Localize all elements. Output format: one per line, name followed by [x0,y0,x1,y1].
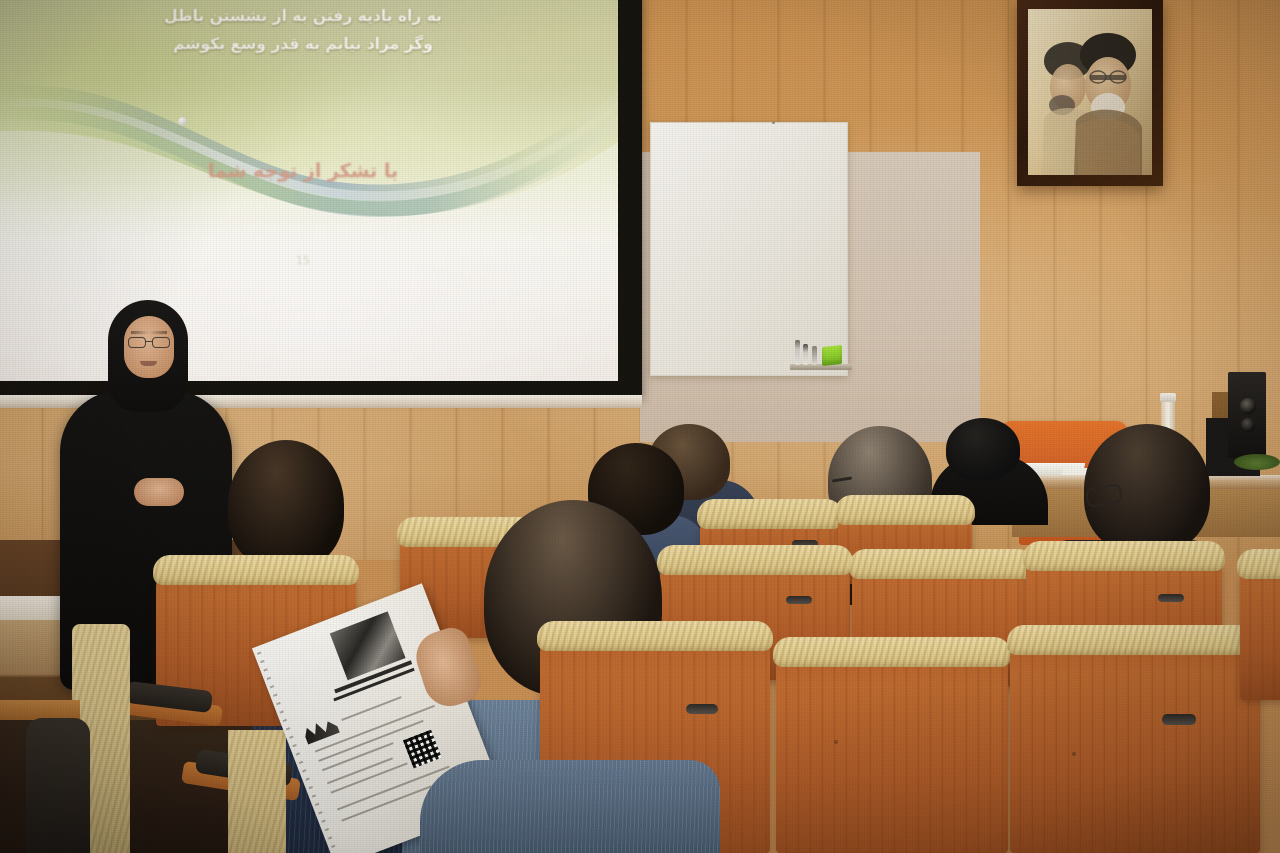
portrait-figures [1028,9,1152,175]
seat-headrest-pad [657,545,853,575]
seat-front-row [1010,636,1260,853]
slide-thanks-text: با تشکر از توجه شما [0,160,618,182]
projection-screen-surface: به راه بادیه رفتن به از نشستن باطل وگر م… [0,0,618,381]
seat-headrest-pad [773,637,1011,667]
whiteboard-marker-tray [790,364,852,370]
whiteboard-marker [795,340,800,365]
framed-leaders-portrait [1017,0,1163,186]
whiteboard-mount-knob [178,117,187,126]
seat-grip-handle [1158,594,1184,602]
seat-back-panel [1010,636,1260,853]
seat-side-post [228,730,286,853]
handout-logo [302,716,340,745]
seat-headrest-pad [153,555,359,585]
water-bottle-cap [1160,393,1176,402]
seat-back-panel [776,648,1008,853]
seat-dark-cushion [26,718,90,853]
photo-scene: به راه بادیه رفتن به از نشستن باطل وگر م… [0,0,1280,853]
seat-front-row [776,648,1008,853]
portrait-image [1028,9,1152,175]
seat-headrest-pad [1237,549,1280,579]
back-chador-attendee-head [946,418,1020,480]
whiteboard-eraser [822,345,842,366]
handout-text-line [341,696,401,721]
loudspeaker [1228,372,1266,458]
seat-headrest-pad [1007,625,1263,655]
presenter-glasses-bridge [145,341,153,342]
seat-grip-handle [1162,714,1196,725]
presenter-clasped-hands [134,478,184,506]
whiteboard-screw [772,121,775,124]
slide-page-number: 15 [0,254,618,267]
whiteboard [650,122,848,376]
slide-verse-line-1: به راه بادیه رفتن به از نشستن باطل [0,7,618,25]
slide-wave-graphic [0,0,618,381]
plant-foliage [1234,454,1280,470]
seat-screw [834,740,838,744]
seat-grip-handle [786,596,812,604]
loudspeaker-driver [1240,398,1256,414]
presenter-mouth [140,361,157,366]
seat-headrest-pad [849,549,1035,579]
seat-back-panel [1240,560,1280,700]
seat-front-shelf [0,700,80,720]
seat-headrest-pad [1023,541,1225,571]
front-left-attendee-head [228,440,344,570]
front-center-attendee-shoulder-overlay [420,760,720,853]
presenter-brows [131,331,167,334]
slide-verse-line-2: وگر مراد نیابم به قدر وسع بکوشم [0,35,618,53]
seat-headrest-pad [537,621,773,651]
handout-qr-code [403,730,442,769]
whiteboard-marker [812,346,817,365]
seat-grip-handle [686,704,718,714]
seat-headrest-pad [697,499,843,529]
whiteboard-marker [803,344,808,365]
projection-screen-frame: به راه بادیه رفتن به از نشستن باطل وگر م… [0,0,642,397]
seat-front-row-edge [1240,560,1280,700]
seat-headrest-pad [835,495,975,525]
loudspeaker-driver [1241,418,1255,432]
seat-screw [1072,752,1076,756]
